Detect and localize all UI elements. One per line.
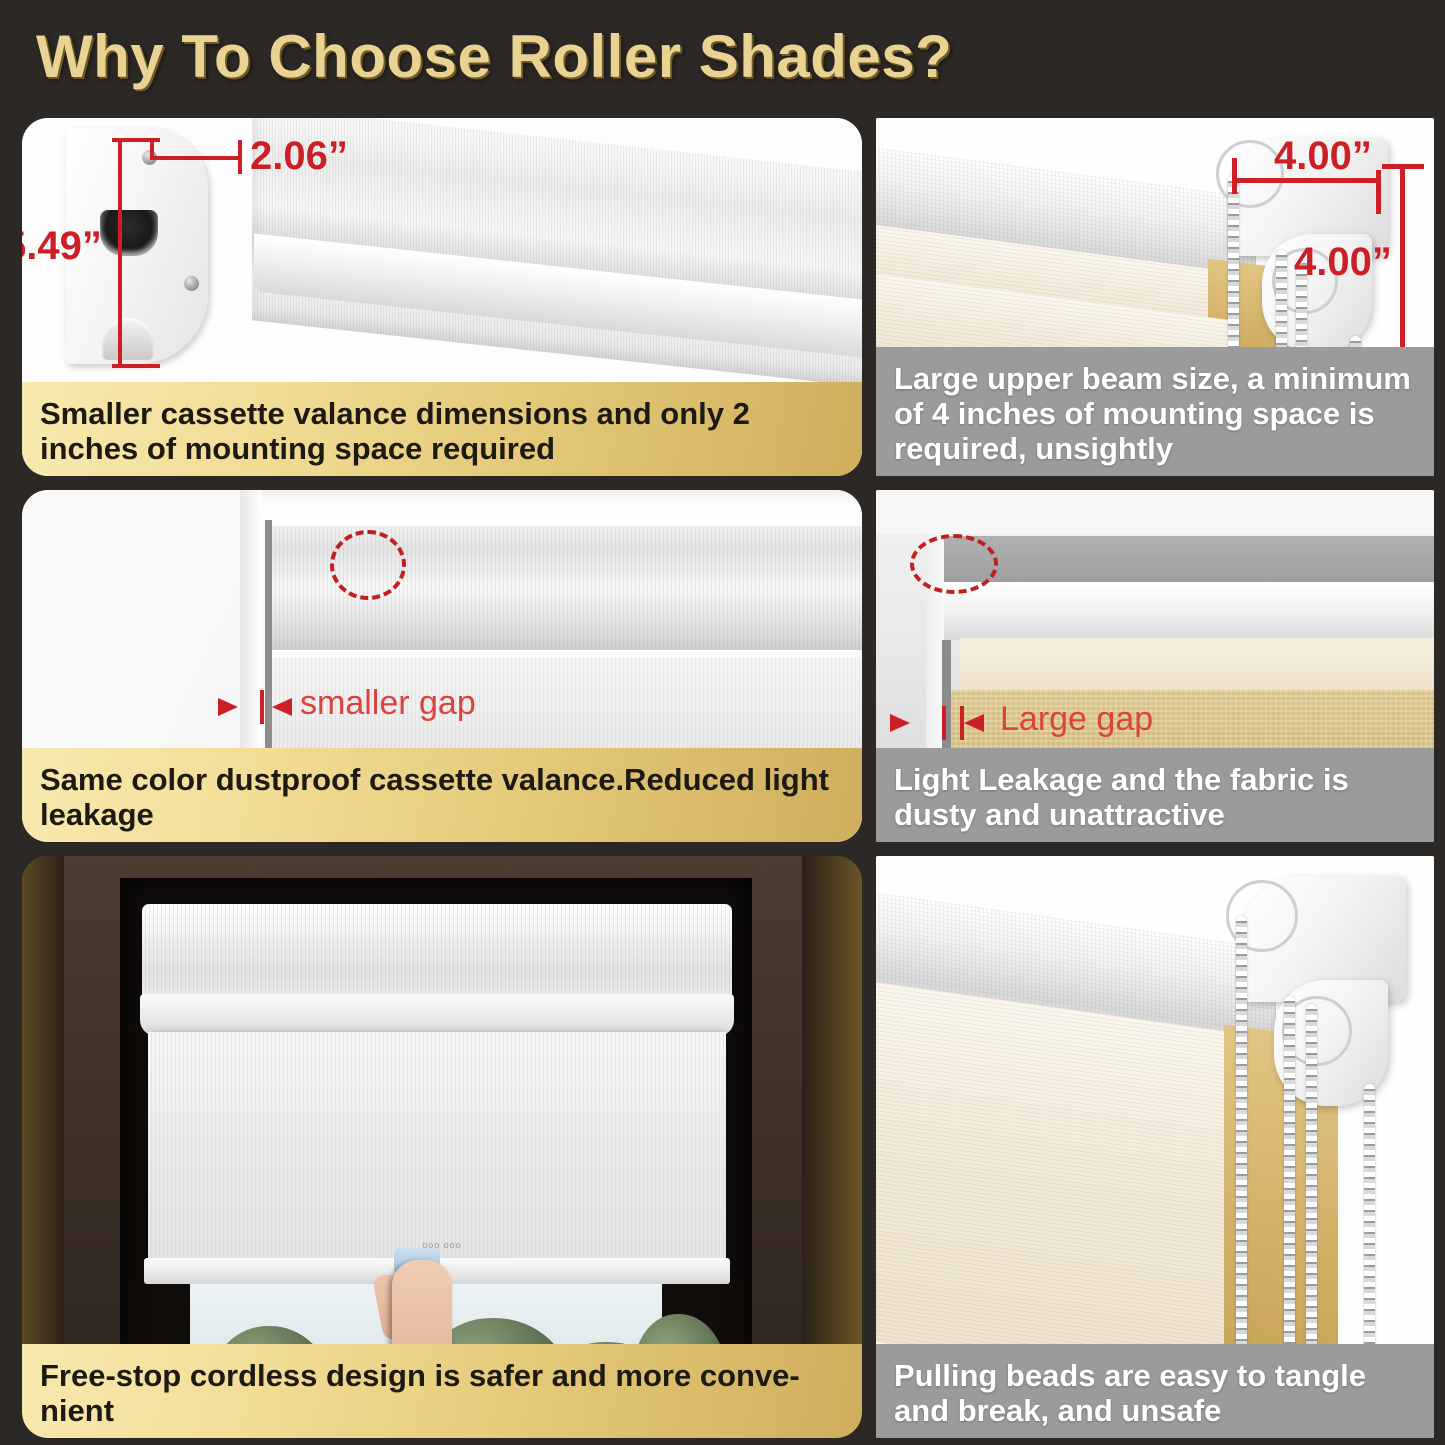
- gap-marker-a: [942, 706, 946, 740]
- gap-arrow-left: [890, 714, 910, 732]
- bead-chain-mid: [1284, 996, 1295, 1386]
- bead-chain-right: [1306, 1004, 1317, 1386]
- dim-rule-horizontal: [150, 156, 242, 160]
- dim-tick-left: [1232, 158, 1237, 194]
- gap-arrow-left: [218, 698, 238, 716]
- dim-label-height: 4.00”: [1294, 240, 1392, 285]
- dim-rule-vertical: [118, 140, 122, 368]
- dim-tick-right: [238, 140, 242, 174]
- panel-1-smaller-cassette: 2.06” 5.49” Smaller cassette valance dim…: [22, 118, 862, 476]
- dim-rule-vertical: [1400, 166, 1405, 356]
- panel-2-caption: Large upper beam size, a minimum of 4 in…: [876, 347, 1434, 476]
- panel-4-light-leakage: Large gap Light Leakage and the fabric i…: [876, 490, 1434, 842]
- gap-marker-b: [960, 706, 964, 740]
- gap-marker: [260, 690, 264, 724]
- panel-6-pulling-beads: Pulling beads are easy to tangle and bre…: [876, 856, 1434, 1438]
- comparison-grid: 2.06” 5.49” Smaller cassette valance dim…: [0, 112, 1445, 1445]
- panel-3-caption: Same color dustproof cassette valance.Re…: [22, 748, 862, 842]
- bead-chain-far: [1364, 1084, 1375, 1386]
- highlight-circle-gap: [330, 530, 406, 600]
- page-title: Why To Choose Roller Shades?: [36, 22, 952, 91]
- dim-tick-left: [150, 138, 154, 160]
- dim-tick-top: [1382, 164, 1424, 169]
- panel-5-cordless-design: ooo ooo Free-stop cordless design is saf…: [22, 856, 862, 1438]
- header-bar: Why To Choose Roller Shades?: [0, 0, 1445, 112]
- panel-6-caption: Pulling beads are easy to tangle and bre…: [876, 1344, 1434, 1438]
- panel-4-caption: Light Leakage and the fabric is dusty an…: [876, 748, 1434, 842]
- dim-tick-right: [1376, 170, 1381, 214]
- dim-label-width: 2.06”: [250, 134, 348, 179]
- dim-tick-bottom: [112, 364, 160, 368]
- dim-label-height: 5.49”: [22, 224, 102, 269]
- panel-3-dustproof-valance: smaller gap Same color dustproof cassett…: [22, 490, 862, 842]
- dim-label-width: 4.00”: [1274, 134, 1372, 179]
- gap-arrow-right: [272, 698, 292, 716]
- panel-1-caption: Smaller cassette valance dimensions and …: [22, 382, 862, 476]
- gap-label-smaller: smaller gap: [300, 684, 476, 723]
- highlight-circle-gap: [910, 534, 998, 594]
- panel-5-caption: Free-stop cordless design is safer and m…: [22, 1344, 862, 1438]
- bead-chain-left: [1236, 916, 1247, 1386]
- gap-label-large: Large gap: [1000, 700, 1153, 739]
- gap-arrow-right: [964, 714, 984, 732]
- panel-2-large-upper-beam: 4.00” 4.00” Large upper beam size, a min…: [876, 118, 1434, 476]
